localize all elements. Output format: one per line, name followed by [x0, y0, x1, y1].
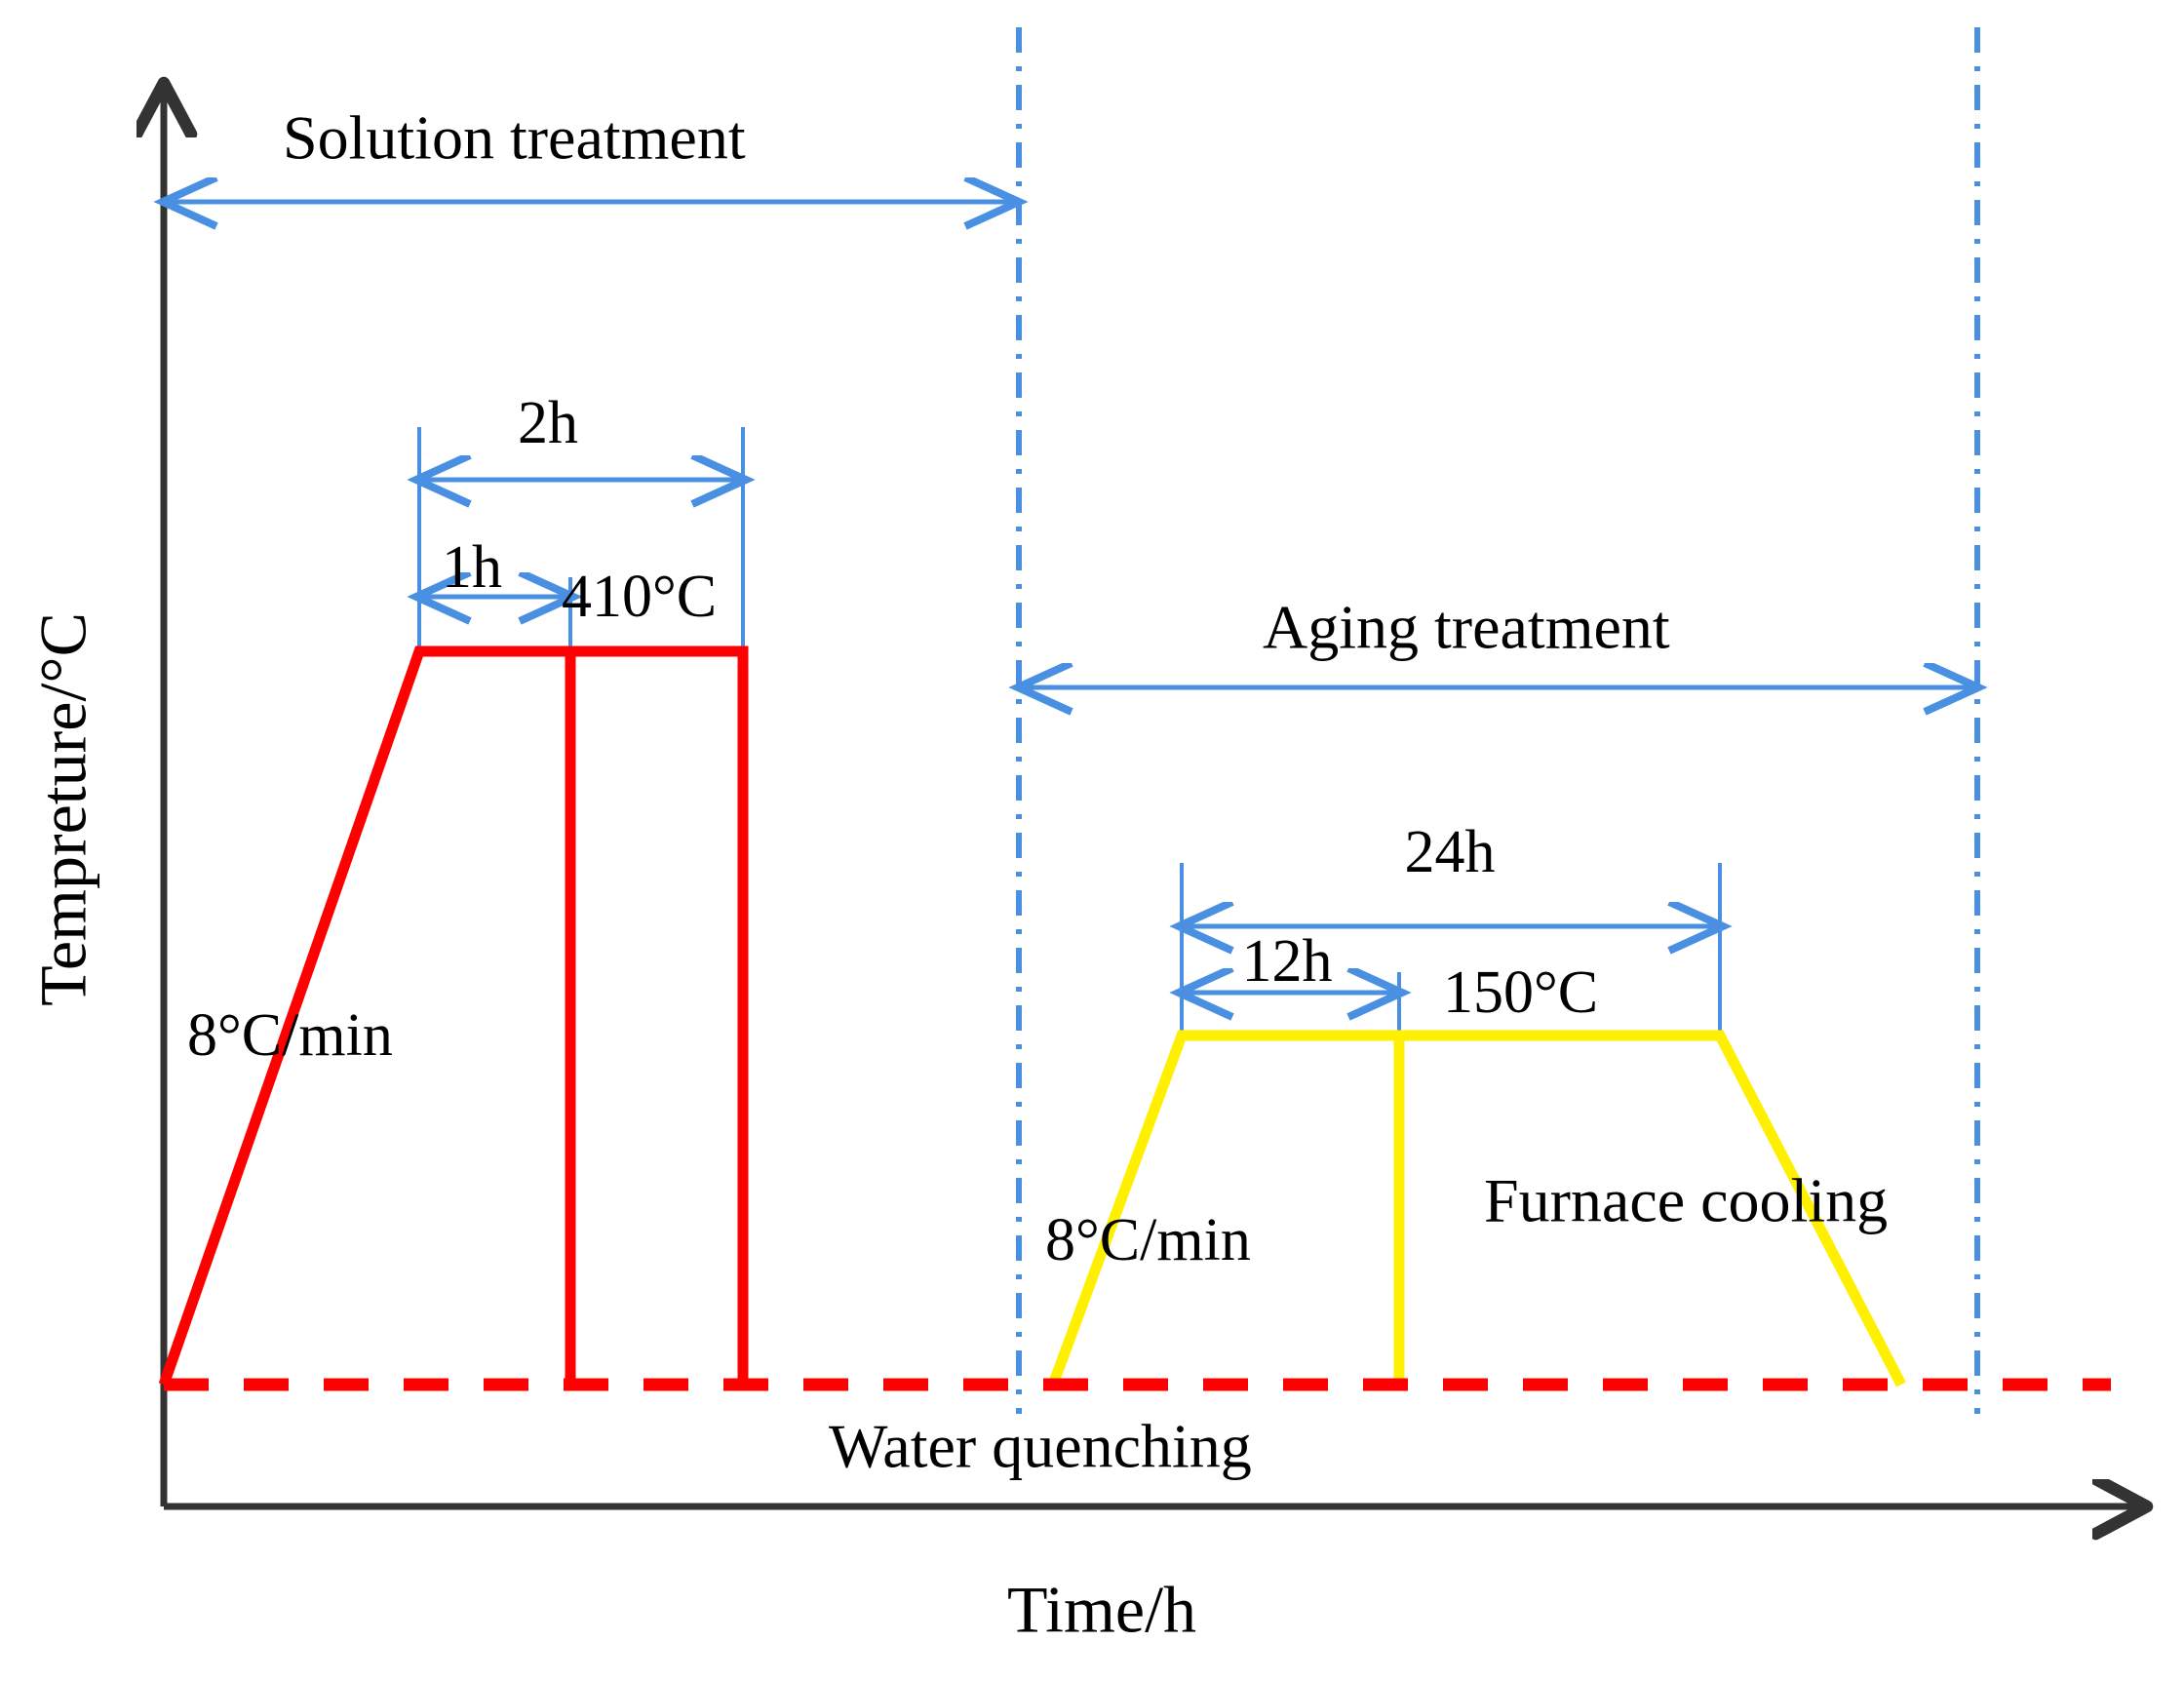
- chart-canvas: Solution treatment Aging treatment 2h 1h…: [0, 0, 2184, 1681]
- water-quenching-label: Water quenching: [829, 1412, 1252, 1481]
- x-axis-label: Time/h: [1007, 1573, 1196, 1647]
- aging-hold-24h-label: 24h: [1405, 819, 1496, 885]
- solution-temperature-label: 410°C: [562, 564, 717, 630]
- heat-treatment-schematic: Solution treatment Aging treatment 2h 1h…: [0, 0, 2184, 1681]
- axes-group: [164, 90, 2140, 1506]
- solution-hold-2h-label: 2h: [518, 390, 578, 456]
- aging-hold-12h-label: 12h: [1242, 928, 1333, 995]
- solution-treatment-label: Solution treatment: [283, 103, 746, 173]
- aging-treatment-label: Aging treatment: [1263, 593, 1670, 662]
- solution-hold-1h-label: 1h: [442, 534, 502, 601]
- solution-heating-rate-label: 8°C/min: [187, 1002, 393, 1069]
- aging-heating-rate-label: 8°C/min: [1045, 1207, 1251, 1273]
- aging-temperature-label: 150°C: [1443, 959, 1598, 1026]
- furnace-cooling-label: Furnace cooling: [1484, 1166, 1888, 1235]
- y-axis-label: Tempreture/°C: [26, 612, 100, 1006]
